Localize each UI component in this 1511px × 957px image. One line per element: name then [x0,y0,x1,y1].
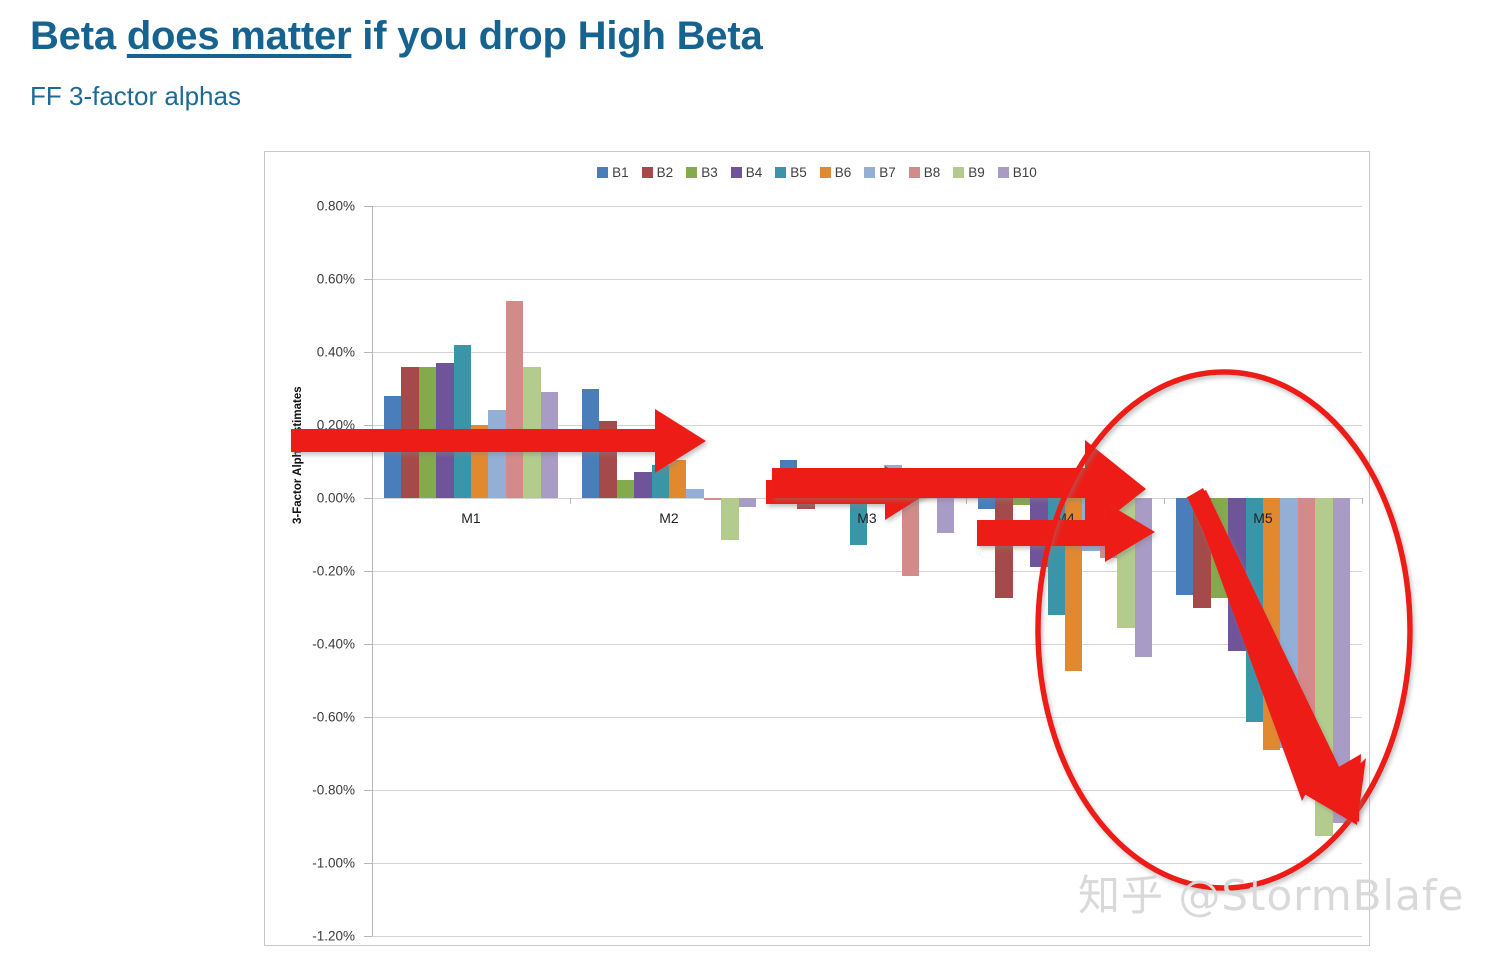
bar-m1-b4[interactable] [436,363,453,498]
bar-m1-b5[interactable] [454,345,471,498]
y-axis-tick-mark [364,571,372,572]
y-axis-tick-label: 0.00% [262,491,362,506]
gridline [372,717,1362,718]
x-axis-label-m3: M3 [857,510,876,526]
bar-m1-b1[interactable] [384,396,401,498]
bar-m5-b7[interactable] [1280,498,1297,748]
page-title: Beta does matter if you drop High Beta [30,14,763,59]
plot-area: 0.80%0.60%0.40%0.20%0.00%-0.20%-0.40%-0.… [265,152,1369,945]
bar-m2-b7[interactable] [686,489,703,498]
bar-m5-b4[interactable] [1228,498,1245,651]
x-axis-label-m2: M2 [659,510,678,526]
bar-m5-b2[interactable] [1193,498,1210,608]
bar-m1-b3[interactable] [419,367,436,498]
bar-m3-b9[interactable] [919,482,936,498]
bar-m3-b6[interactable] [867,498,884,500]
bar-m2-b3[interactable] [617,480,634,498]
y-axis-tick-mark [364,206,372,207]
bar-m1-b6[interactable] [471,425,488,498]
x-axis-label-m5: M5 [1253,510,1272,526]
y-axis-tick-label: 0.60% [262,272,362,287]
title-segment-underlined: does matter [127,14,352,58]
bar-m4-b2[interactable] [995,498,1012,598]
y-axis-tick-mark [364,352,372,353]
page-subtitle: FF 3-factor alphas [30,81,241,112]
bar-m5-b9[interactable] [1315,498,1332,836]
bar-m2-b6[interactable] [669,460,686,498]
gridline [372,790,1362,791]
bar-m1-b2[interactable] [401,367,418,498]
y-axis-tick-label: -0.60% [262,710,362,725]
bar-m1-b9[interactable] [523,367,540,498]
gridline [372,206,1362,207]
y-axis-tick-label: 0.20% [262,418,362,433]
bar-m2-b4[interactable] [634,472,651,498]
bar-m1-b7[interactable] [488,410,505,498]
y-axis-tick-mark [364,936,372,937]
bar-m2-b10[interactable] [739,498,756,507]
gridline [372,644,1362,645]
y-axis-tick-label: -1.00% [262,856,362,871]
bar-m4-b4[interactable] [1030,498,1047,567]
y-axis-tick-mark [364,644,372,645]
y-axis-tick-mark [364,790,372,791]
y-axis-tick-label: -0.20% [262,564,362,579]
bar-m2-b8[interactable] [704,498,721,500]
x-axis-tick-mark [966,498,967,504]
bar-m5-b1[interactable] [1176,498,1193,595]
x-axis-tick-mark [570,498,571,504]
y-axis-line [372,206,373,936]
y-axis-tick-mark [364,863,372,864]
gridline [372,936,1362,937]
bar-m5-b6[interactable] [1263,498,1280,750]
y-axis-tick-label: 0.80% [262,199,362,214]
bar-m2-b5[interactable] [652,465,669,498]
y-axis-tick-mark [364,425,372,426]
x-axis-label-m4: M4 [1055,510,1074,526]
x-axis-tick-mark [1164,498,1165,504]
y-axis-tick-label: -1.20% [262,929,362,944]
bar-m5-b5[interactable] [1246,498,1263,722]
bar-m4-b9[interactable] [1117,498,1134,628]
y-axis-tick-mark [364,717,372,718]
title-segment-1: Beta [30,14,127,58]
chart-container: B1B2B3B4B5B6B7B8B9B10 3-Factor Alpha Est… [264,151,1370,946]
bar-m4-b3[interactable] [1013,498,1030,505]
bar-m3-b10[interactable] [937,498,954,533]
y-axis-tick-label: 0.40% [262,345,362,360]
y-axis-tick-label: -0.80% [262,783,362,798]
bar-m4-b1[interactable] [978,498,995,509]
bar-m3-b7[interactable] [884,465,901,498]
x-axis-tick-mark [768,498,769,504]
gridline [372,279,1362,280]
title-segment-2: if you drop High Beta [351,14,762,58]
y-axis-tick-mark [364,279,372,280]
bar-m2-b2[interactable] [599,421,616,498]
bar-m1-b8[interactable] [506,301,523,498]
x-axis-label-m1: M1 [461,510,480,526]
bar-m1-b10[interactable] [541,392,558,498]
bar-m4-b10[interactable] [1135,498,1152,657]
bar-m3-b8[interactable] [902,498,919,576]
bar-m4-b7[interactable] [1082,498,1099,551]
bar-m3-b1[interactable] [780,460,797,498]
x-axis-tick-mark [372,498,373,504]
bar-m5-b3[interactable] [1211,498,1228,598]
bar-m2-b1[interactable] [582,389,599,499]
y-axis-tick-label: -0.40% [262,637,362,652]
bar-m2-b9[interactable] [721,498,738,540]
watermark: 知乎 @StormBlafe [1078,862,1464,923]
bar-m4-b8[interactable] [1100,498,1117,558]
bar-m3-b2[interactable] [797,498,814,509]
bar-m5-b8[interactable] [1298,498,1315,748]
bar-m3-b3[interactable] [815,498,832,503]
y-axis-tick-mark [364,498,372,499]
bar-m5-b10[interactable] [1333,498,1350,823]
bar-m3-b4[interactable] [832,480,849,498]
x-axis-tick-mark [1362,498,1363,504]
